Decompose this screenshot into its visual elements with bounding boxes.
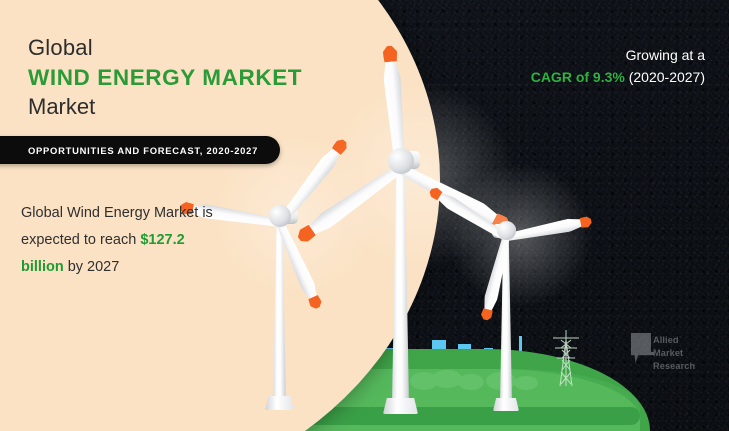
- cagr-callout: Growing at a CAGR of 9.3% (2020-2027): [531, 45, 705, 88]
- allied-market-research-logo: Allied Market Research: [631, 333, 701, 379]
- page-title: Global WIND ENERGY MARKET Market: [28, 34, 358, 120]
- cagr-lead-text: Growing at a: [531, 45, 705, 67]
- cagr-value: CAGR of 9.3%: [531, 69, 625, 85]
- title-line-market: Market: [28, 93, 358, 121]
- forecast-ribbon: OPPORTUNITIES AND FORECAST, 2020-2027: [0, 136, 280, 164]
- logo-line-2: Market: [653, 347, 695, 360]
- title-line-main: WIND ENERGY MARKET: [28, 63, 358, 92]
- transmission-pylon-right: [550, 328, 582, 388]
- logo-line-1: Allied: [653, 334, 695, 347]
- title-line-global: Global: [28, 34, 358, 62]
- market-size-statement: Global Wind Energy Market is expected to…: [21, 200, 231, 280]
- logo-line-3: Research: [653, 360, 695, 373]
- infographic-canvas: Global WIND ENERGY MARKET Market OPPORTU…: [0, 0, 729, 431]
- forecast-ribbon-label: OPPORTUNITIES AND FORECAST, 2020-2027: [0, 145, 258, 156]
- statement-part-2: by 2027: [64, 259, 120, 275]
- cagr-period: (2020-2027): [629, 69, 705, 85]
